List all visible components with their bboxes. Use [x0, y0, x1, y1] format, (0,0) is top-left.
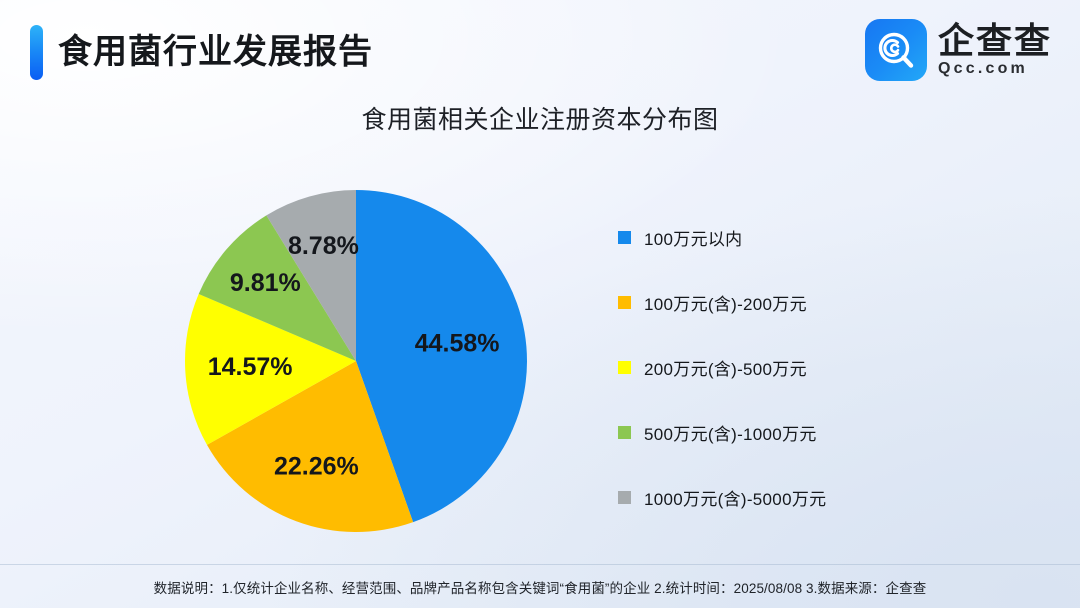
pie-slice-label: 14.57% — [208, 353, 293, 381]
pie-slice-label: 8.78% — [288, 232, 359, 260]
legend-swatch-icon — [618, 231, 631, 244]
legend-swatch-icon — [618, 296, 631, 309]
brand-logo: 企查查 Qcc.com — [865, 19, 1052, 81]
legend-item-label: 100万元以内 — [644, 225, 742, 250]
report-page: 食用菌行业发展报告 企查查 Qcc.com 食用菌相关企业注册资本分布图 44.… — [0, 0, 1080, 608]
legend-swatch-icon — [618, 491, 631, 504]
brand-wordmark: 企查查 Qcc.com — [938, 23, 1052, 77]
legend-item-label: 200万元(含)-500万元 — [644, 355, 807, 380]
pie-chart-svg: 44.58%22.26%14.57%9.81%8.78% — [185, 190, 527, 532]
brand-name-cn: 企查查 — [938, 23, 1052, 59]
footer-bar: 数据说明：1.仅统计企业名称、经营范围、品牌产品名称包含关键词“食用菌”的企业 … — [0, 564, 1080, 608]
legend-item[interactable]: 200万元(含)-500万元 — [618, 335, 978, 400]
chart-legend: 100万元以内100万元(含)-200万元200万元(含)-500万元500万元… — [618, 205, 978, 530]
pie-chart: 44.58%22.26%14.57%9.81%8.78% — [185, 190, 527, 532]
page-header: 食用菌行业发展报告 企查查 Qcc.com — [0, 0, 1080, 100]
legend-swatch-icon — [618, 426, 631, 439]
legend-item[interactable]: 100万元以内 — [618, 205, 978, 270]
brand-name-en: Qcc.com — [938, 61, 1052, 77]
legend-item[interactable]: 500万元(含)-1000万元 — [618, 400, 978, 465]
qcc-logo-icon — [865, 19, 927, 81]
legend-item[interactable]: 100万元(含)-200万元 — [618, 270, 978, 335]
legend-item-label: 100万元(含)-200万元 — [644, 290, 807, 315]
title-accent-bar — [30, 25, 43, 80]
legend-item-label: 500万元(含)-1000万元 — [644, 420, 817, 445]
legend-item[interactable]: 1000万元(含)-5000万元 — [618, 465, 978, 530]
legend-swatch-icon — [618, 361, 631, 374]
pie-slice-label: 44.58% — [415, 330, 500, 358]
legend-item-label: 1000万元(含)-5000万元 — [644, 485, 826, 510]
page-title: 食用菌行业发展报告 — [58, 24, 373, 73]
data-source-note: 数据说明：1.仅统计企业名称、经营范围、品牌产品名称包含关键词“食用菌”的企业 … — [154, 577, 927, 597]
chart-area: 44.58%22.26%14.57%9.81%8.78% 100万元以内100万… — [0, 150, 1080, 550]
chart-title: 食用菌相关企业注册资本分布图 — [0, 100, 1080, 136]
pie-slice-label: 22.26% — [274, 453, 359, 481]
pie-slice-label: 9.81% — [230, 269, 301, 297]
